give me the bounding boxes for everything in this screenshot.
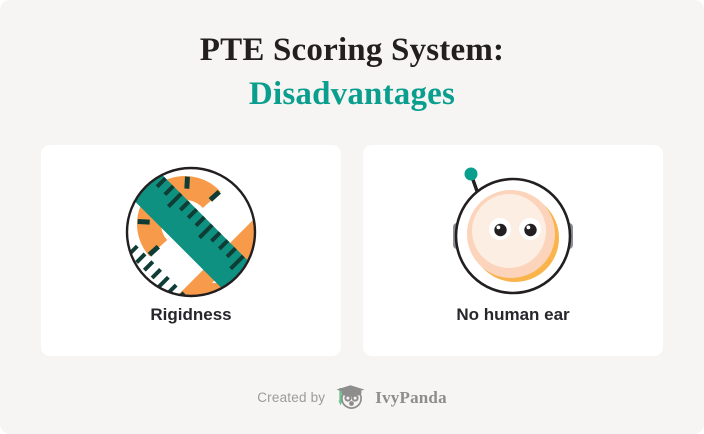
infographic-canvas: PTE Scoring System: Disadvantages (0, 0, 704, 434)
footer-created-by-label: Created by (257, 390, 325, 405)
ivypanda-panda-graduation-logo (333, 380, 367, 415)
footer-attribution: Created by (0, 380, 704, 415)
page-title: PTE Scoring System: Disadvantages (0, 28, 704, 116)
footer-brand-name: IvyPanda (375, 388, 447, 408)
card-no-human-ear[interactable]: No human ear (363, 145, 663, 356)
ruler-protractor-icon (121, 162, 261, 302)
title-line-accent: Disadvantages (0, 72, 704, 116)
robot-head-icon (443, 162, 583, 302)
card-list: Rigidness (41, 145, 663, 356)
card-rigidness[interactable]: Rigidness (41, 145, 341, 356)
card-label-no-human-ear: No human ear (456, 304, 569, 326)
title-line-primary: PTE Scoring System: (0, 28, 704, 72)
card-label-rigidness: Rigidness (150, 304, 231, 326)
